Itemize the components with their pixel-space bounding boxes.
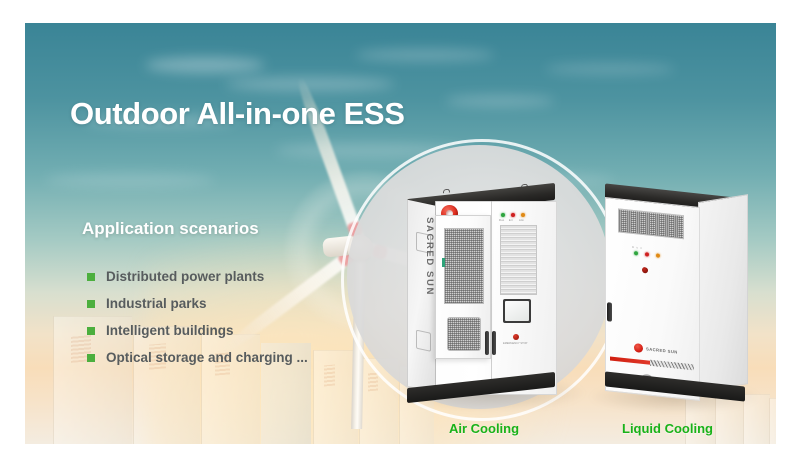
led-error-icon [645, 252, 649, 256]
caption-liquid-cooling: Liquid Cooling [622, 421, 713, 436]
bullet-square-icon [87, 273, 95, 281]
poster-page: Outdoor All-in-one ESS Application scena… [0, 0, 800, 469]
door-handle[interactable] [607, 302, 612, 322]
list-item-label: Optical storage and charging ... [106, 350, 308, 365]
led-label-group: Run [632, 246, 645, 250]
led-label-err: Err [509, 219, 513, 222]
led-run-icon [634, 251, 638, 255]
list-item: Intelligent buildings [87, 317, 308, 344]
led-label-run: Run [499, 219, 504, 222]
brand-name: SACRED SUN [424, 217, 435, 296]
hatched-band [650, 360, 694, 371]
cloud-icon [145, 57, 265, 73]
louver-vent-icon [500, 225, 537, 295]
fan-grille-icon [447, 317, 481, 351]
led-label-alm: Alm [519, 219, 524, 222]
list-item: Distributed power plants [87, 263, 308, 290]
bullet-square-icon [87, 354, 95, 362]
door-handle[interactable] [485, 331, 489, 355]
product-air-cooling: SACRED SUN Run Err Alm EMERGENCY STOP [403, 191, 568, 401]
list-item: Optical storage and charging ... [87, 344, 308, 371]
brand-lockup: SACRED SUN [634, 343, 678, 357]
control-column: Run Err Alm EMERGENCY STOP [495, 203, 553, 389]
bullet-square-icon [87, 327, 95, 335]
led-alarm-icon [656, 253, 660, 257]
led-error-icon [511, 213, 515, 217]
vent-grille-icon [444, 228, 484, 304]
scenarios-heading: Application scenarios [82, 219, 259, 239]
led-run-icon [501, 213, 505, 217]
list-item: Industrial parks [87, 290, 308, 317]
background-cabinet [769, 398, 776, 444]
list-item-label: Intelligent buildings [106, 323, 234, 338]
product-liquid-cooling: Run SACRED SUN [605, 183, 757, 405]
status-led [442, 258, 445, 267]
list-item-label: Industrial parks [106, 296, 207, 311]
cloud-icon [545, 63, 675, 75]
page-title: Outdoor All-in-one ESS [70, 96, 404, 132]
bullet-square-icon [87, 300, 95, 308]
scenarios-list: Distributed power plants Industrial park… [87, 263, 308, 371]
cloud-icon [45, 173, 215, 187]
led-alarm-icon [521, 213, 525, 217]
vent-grille-icon [618, 208, 684, 239]
cabinet-side-panel [698, 194, 748, 392]
brand-name: SACRED SUN [646, 346, 678, 354]
door-handle[interactable] [492, 331, 496, 355]
air-conditioning-module [435, 215, 491, 359]
emergency-stop-button[interactable] [513, 334, 519, 340]
sacred-sun-logo-icon [634, 343, 643, 353]
cabinet-front-face: Run SACRED SUN [605, 197, 700, 401]
caption-air-cooling: Air Cooling [449, 421, 519, 436]
emergency-stop-label: EMERGENCY STOP [503, 342, 527, 345]
banner-artwork: Outdoor All-in-one ESS Application scena… [25, 23, 776, 444]
lifting-lug-icon [443, 189, 450, 194]
indicator-led-group [634, 251, 660, 258]
list-item-label: Distributed power plants [106, 269, 264, 284]
indicator-led-group [501, 213, 525, 217]
display-screen[interactable] [503, 299, 531, 323]
emergency-stop-button[interactable] [642, 267, 648, 274]
